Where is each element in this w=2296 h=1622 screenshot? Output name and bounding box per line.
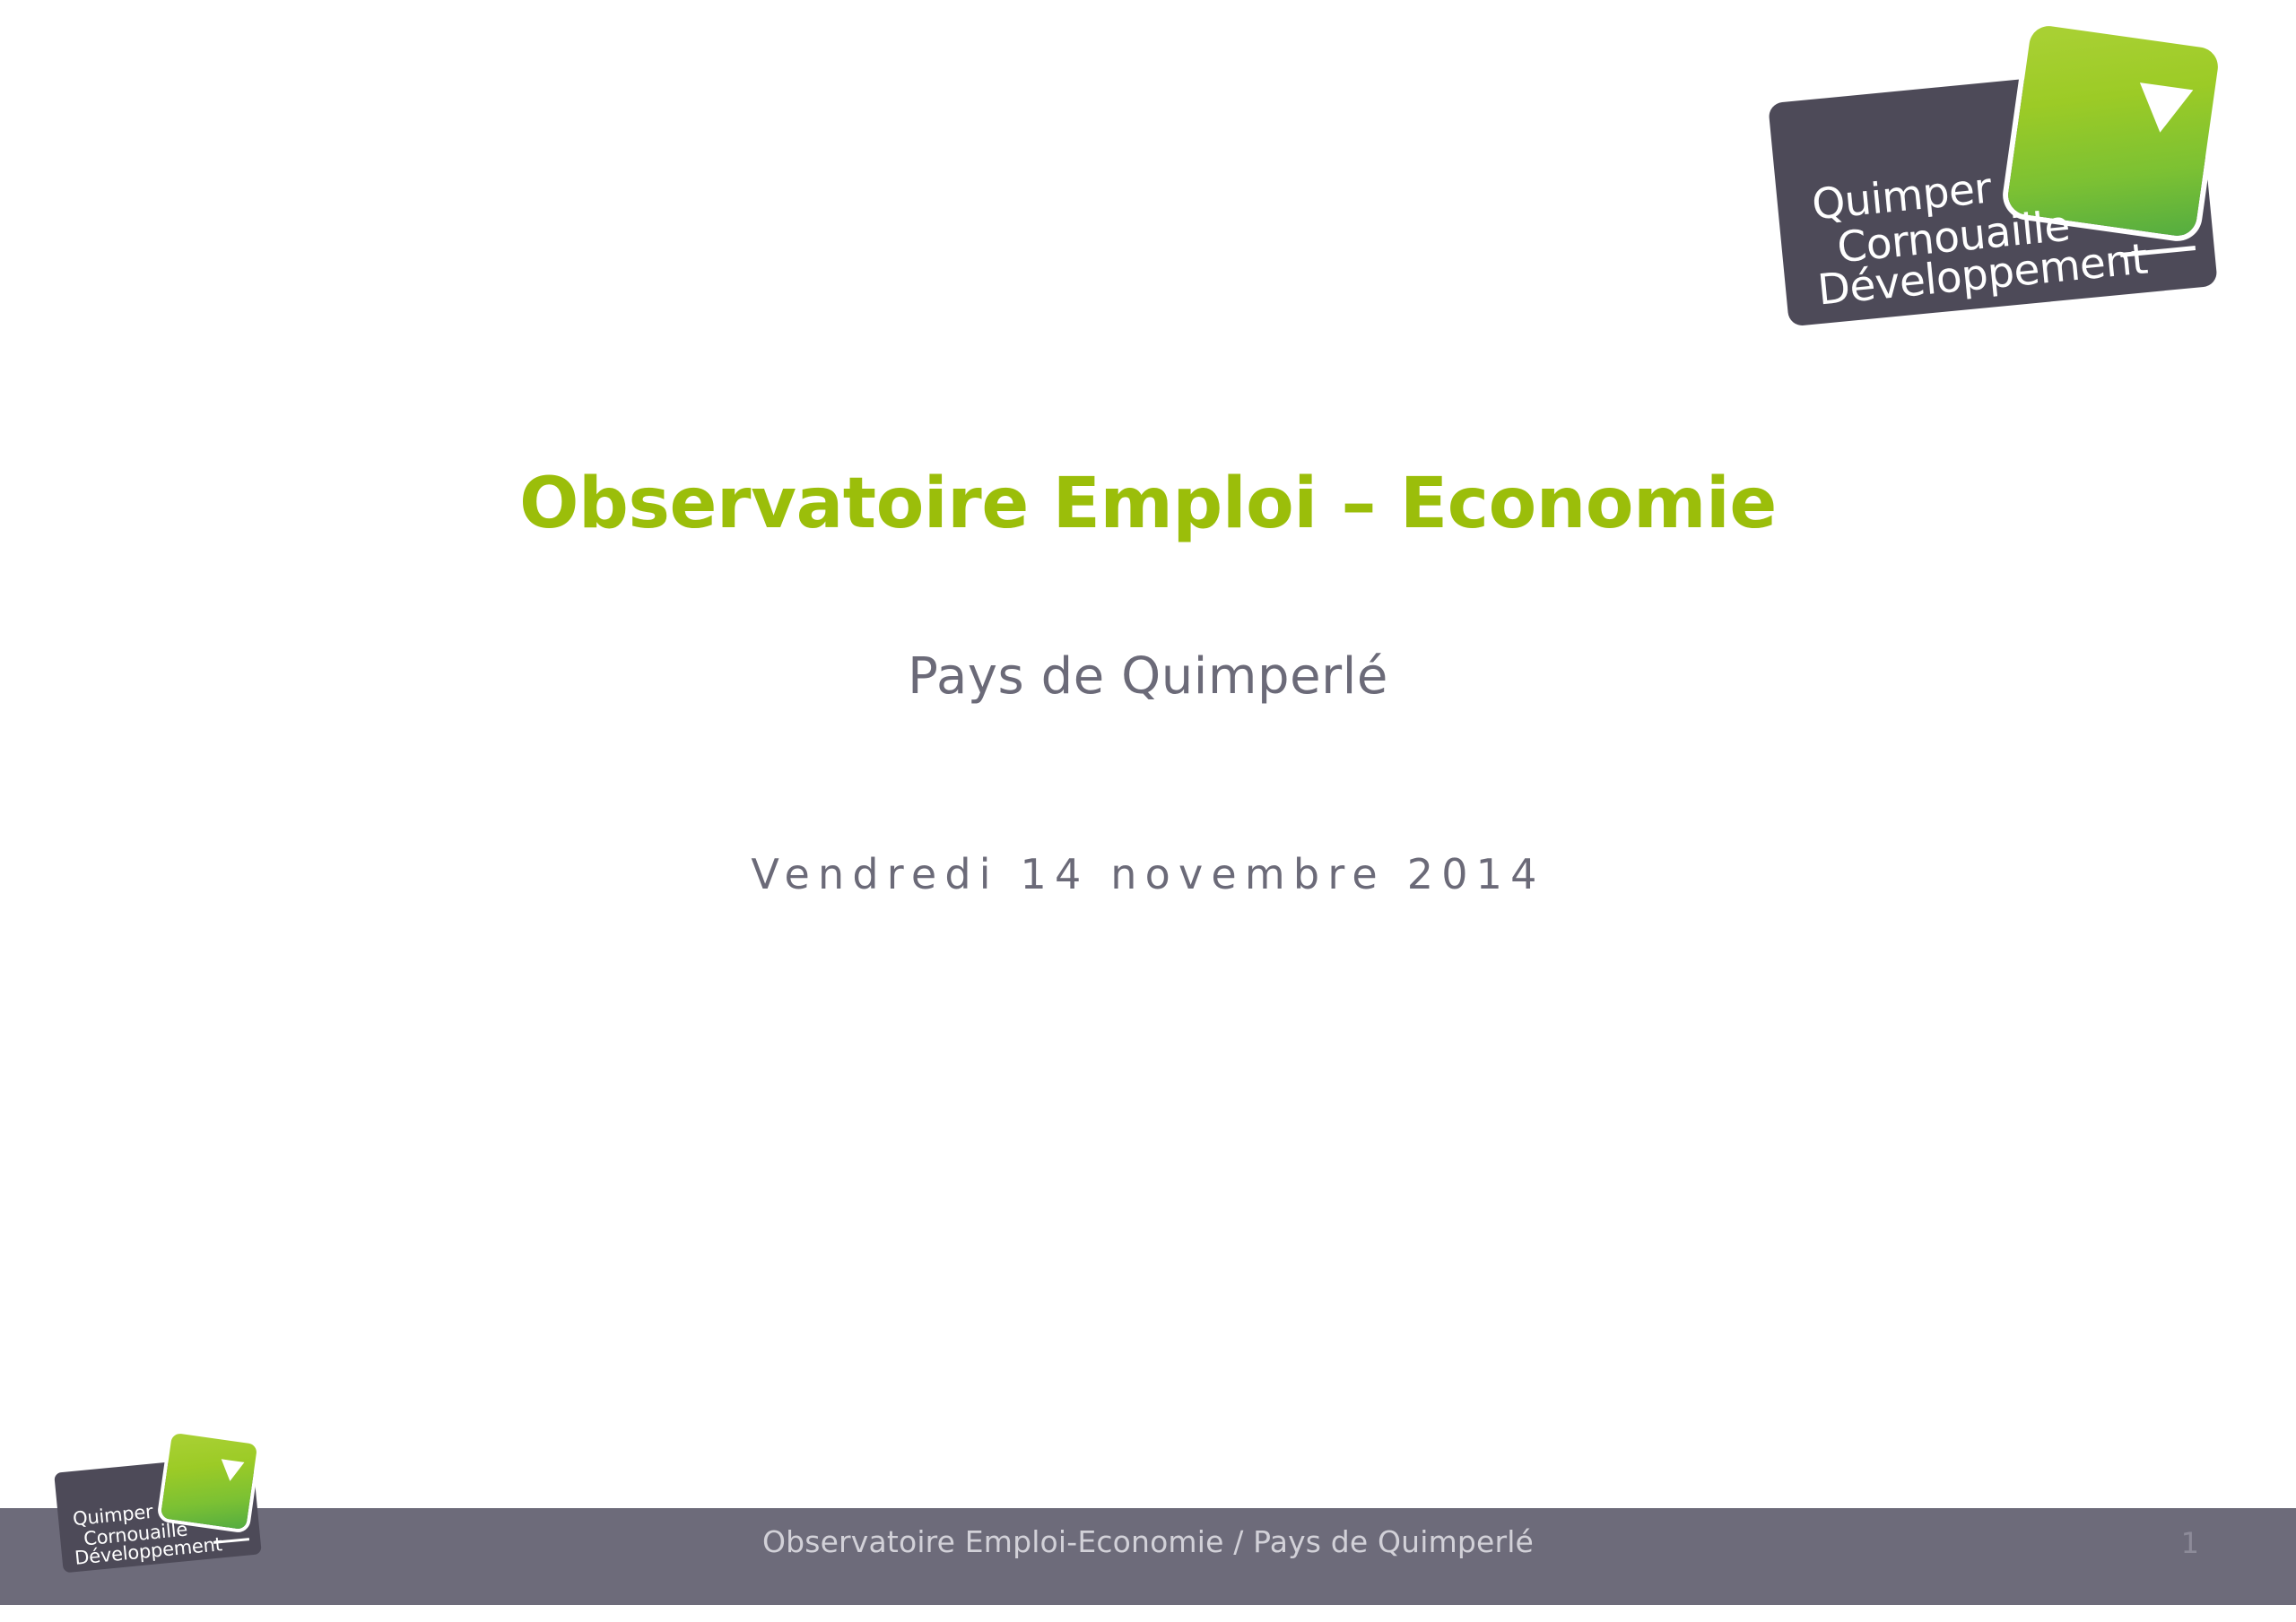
brand-logo-footer: Quimper Cornouaille Développement <box>49 1438 274 1568</box>
slide-canvas: Quimper Cornouaille Développement Observ… <box>0 0 2296 1622</box>
logo-triangle-icon <box>2134 82 2194 136</box>
title-block: Observatoire Emploi – Economie Pays de Q… <box>0 466 2296 899</box>
page-title: Observatoire Emploi – Economie <box>0 466 2296 543</box>
page-number: 1 <box>2181 1526 2199 1560</box>
slide-subtitle: Pays de Quimperlé <box>0 646 2296 707</box>
logo-triangle-icon <box>219 1459 245 1482</box>
slide-date: Vendredi 14 novembre 2014 <box>0 850 2296 899</box>
brand-logo-main: Quimper Cornouaille Développement <box>1758 36 2242 305</box>
footer-text: Observatoire Emploi-Economie / Pays de Q… <box>0 1524 2296 1559</box>
logo-green-square <box>161 1433 257 1530</box>
